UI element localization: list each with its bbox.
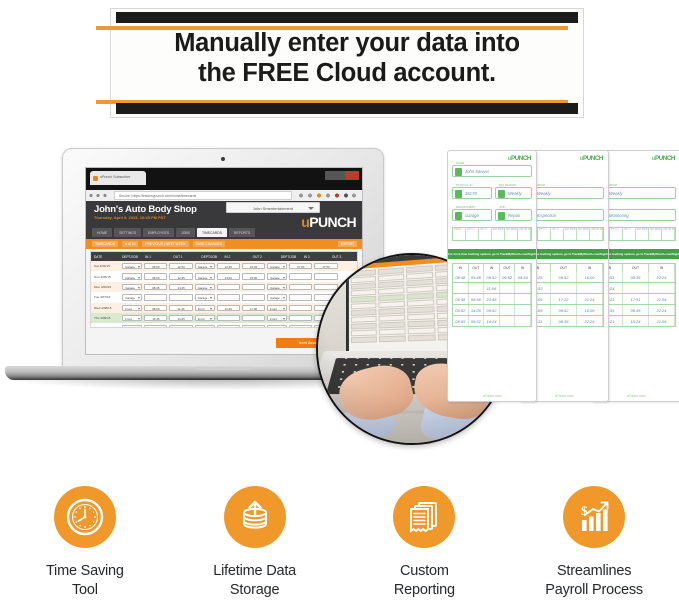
calendar-icon	[498, 190, 505, 198]
dept-job-select[interactable]: Garage	[195, 273, 215, 279]
punch-cell: 09:52	[453, 305, 469, 315]
person-icon	[455, 168, 462, 176]
punch-time-input[interactable]: 13:00	[217, 273, 240, 279]
totals-col-gross-pay: GROSS PAY	[518, 228, 531, 240]
totals-col-pay-rate-1: PAY RATE 1	[492, 228, 505, 240]
punch-cell: 09:52	[551, 305, 577, 315]
shop-name: John's Auto Body Shop	[94, 204, 197, 215]
tc3-value-job: Monitoring	[609, 213, 673, 218]
app-nav-tab-reports[interactable]: REPORTS	[229, 228, 255, 237]
tc1-promo-banner: For more time tracking options, go to Tr…	[448, 249, 536, 259]
headline-line-2: the FREE Cloud account.	[110, 58, 584, 88]
punch-time-input[interactable]: 08:00	[144, 273, 167, 279]
feature-3-line1: Custom	[394, 562, 455, 581]
punch-cell	[649, 283, 675, 293]
punch-row: 09:5214:2609:52	[452, 305, 532, 316]
tc1-field-job[interactable]: JOB Repair	[495, 209, 532, 221]
tc1-footer: uPunch.com	[448, 394, 536, 398]
user-select[interactable]: John Smentertainment	[226, 202, 320, 213]
database-upload-icon	[235, 497, 275, 537]
punch-time-input[interactable]	[289, 273, 312, 279]
paper-timecards: uPUNCH NAME John Sawyer PAYROLL ID 36178…	[443, 150, 677, 408]
feature-4-line2: Payroll Process	[545, 581, 643, 600]
tc1-value-payroll: 36178	[465, 191, 489, 196]
app-nav-tab-home[interactable]: HOME	[92, 228, 112, 237]
browser-nav-buttons[interactable]	[89, 193, 111, 198]
tc3-value-payperiod: Weekly	[609, 191, 673, 196]
punch-time-input[interactable]: 08:00	[144, 305, 167, 311]
dept-job-select[interactable]: Garage	[122, 263, 142, 269]
punch-time-input[interactable]: 14:25	[169, 315, 192, 321]
tc1-field-payroll[interactable]: PAYROLL ID 36178	[452, 187, 492, 199]
dept-job-select[interactable]: Garage	[195, 325, 215, 328]
totals-col-pay-rate-2: PAY RATE 2	[649, 228, 662, 240]
punch-cell: 09:54	[515, 272, 531, 282]
documents-icon-badge	[393, 486, 455, 548]
totals-col-qty-2: QTY 2	[551, 228, 564, 240]
punch-time-input[interactable]: 08:00	[144, 263, 167, 269]
punch-col-header: IN	[453, 264, 469, 272]
app-nav-tab-employees[interactable]: EMPLOYEES	[143, 228, 174, 237]
punch-time-input[interactable]	[289, 284, 312, 290]
dept-job-select[interactable]: Garage	[122, 325, 142, 328]
punch-col-header: IN	[577, 264, 603, 272]
totals-col-qty-1: QTY 1	[610, 228, 623, 240]
punch-time-input[interactable]	[169, 325, 192, 328]
col-header-out-2: OUT 2	[250, 252, 278, 261]
dept-job-select[interactable]: Front	[267, 315, 287, 321]
punch-cell: 23:48	[484, 294, 500, 304]
tc1-value-department: Garage	[465, 213, 489, 218]
clock-icon	[65, 497, 105, 537]
dept-job-select[interactable]: Garage	[267, 294, 287, 300]
headline-line-1: Manually enter your data into	[174, 29, 520, 57]
punch-time-input[interactable]	[289, 325, 312, 328]
punch-col-header: IN	[484, 264, 500, 272]
dept-job-select[interactable]: Garage	[195, 294, 215, 300]
punch-time-input[interactable]: 11:45	[169, 305, 192, 311]
punch-time-input[interactable]	[217, 284, 240, 290]
punch-cell: 09:52	[484, 305, 500, 315]
breadcrumb-item-2[interactable]: PREVIOUS | NEXT WEEK	[142, 241, 188, 247]
cell-date: Wed 4/08/15	[91, 306, 120, 310]
punch-cell: 08:56	[469, 294, 485, 304]
tc1-label-department: DEPARTMENT	[455, 205, 477, 209]
col-header-in-1: IN 1	[142, 252, 170, 261]
punch-time-input[interactable]	[289, 294, 312, 300]
punch-cell: 15:24	[623, 316, 649, 326]
punch-cell: 08:35	[551, 316, 577, 326]
tc2-value-job: Inspection	[537, 213, 601, 218]
dept-job-select[interactable]: Garage	[195, 263, 215, 269]
breadcrumb-item-0[interactable]: TIMECARDS	[92, 241, 118, 247]
clock-icon-badge	[54, 486, 116, 548]
punch-row: 05:5808:5623:48	[452, 294, 532, 305]
punch-cell	[515, 305, 531, 315]
punch-cell	[500, 283, 516, 293]
col-header-in-2: IN 2	[221, 252, 249, 261]
feature-1-line2: Tool	[46, 581, 124, 600]
headline-text: Manually enter your data into the FREE C…	[110, 28, 584, 88]
cell-date: Sat 4/04/15	[91, 264, 120, 268]
punch-cell: 17:51	[623, 294, 649, 304]
punch-cell: 14:26	[469, 305, 485, 315]
punch-time-input[interactable]: 15:00	[242, 273, 265, 279]
punch-cell: 08:48	[453, 272, 469, 282]
breadcrumb[interactable]: TIMECARDS4 of 10PREVIOUS | NEXT WEEKSAVE…	[92, 241, 225, 247]
col-header-dept-job: DEPT/JOB	[119, 252, 142, 261]
punch-cell	[453, 283, 469, 293]
punch-time-input[interactable]	[289, 305, 312, 311]
url-input[interactable]: Secure | https://trackmypunch.com/home/t…	[114, 191, 292, 200]
punch-cell: 22:24	[649, 272, 675, 282]
growth-chart-dollar-icon: $	[574, 497, 614, 537]
feature-row: Time Saving Tool	[0, 486, 679, 615]
tc1-label-payperiod: PAY PERIOD	[498, 183, 517, 187]
browser-extension-icons[interactable]	[297, 192, 359, 199]
cell-date: Mon 4/06/15	[91, 285, 120, 289]
dept-job-select[interactable]: Garage	[267, 263, 287, 269]
tc1-punch-table: INOUTINOUTIN08:4805:4809:5209:5209:5411:…	[452, 263, 532, 327]
punch-cell	[551, 283, 577, 293]
punch-time-input[interactable]	[242, 294, 265, 300]
col-header-out-1: OUT 1	[170, 252, 198, 261]
department-icon	[455, 212, 462, 220]
tc1-field-payperiod[interactable]: PAY PERIOD Weekly	[495, 187, 532, 199]
totals-col-pay-rate-1: PAY RATE 1	[636, 228, 649, 240]
dept-job-select[interactable]: Garage	[267, 284, 287, 290]
totals-col-qty-2: QTY 2	[479, 228, 492, 240]
tc1-field-name[interactable]: NAME John Sawyer	[452, 165, 532, 177]
punch-time-input[interactable]	[242, 284, 265, 290]
punch-cell	[469, 283, 485, 293]
totals-col-gross-pay: GROSS PAY	[590, 228, 603, 240]
punch-time-input[interactable]: 17:00	[242, 305, 265, 311]
punch-time-input[interactable]	[242, 315, 265, 321]
breadcrumb-bar: TIMECARDS4 of 10PREVIOUS | NEXT WEEKSAVE…	[86, 239, 362, 249]
dept-job-select[interactable]: Front	[267, 305, 287, 311]
punch-time-input[interactable]: 16:45	[242, 263, 265, 269]
timecard-logo-2: uPUNCH	[580, 155, 603, 162]
banner-bar-black-bottom	[116, 103, 578, 114]
punch-cell: 17:22	[551, 294, 577, 304]
punch-cell: 05:48	[469, 272, 485, 282]
cell-date: Sun 4/05/15	[91, 275, 120, 279]
svg-text:$: $	[581, 503, 588, 518]
headline-banner: Manually enter your data into the FREE C…	[96, 8, 584, 118]
logo-punch: PUNCH	[309, 214, 356, 230]
id-icon	[455, 190, 462, 198]
punch-col-header: IN	[649, 264, 675, 272]
punch-cell: 08:05	[453, 316, 469, 326]
feature-2-caption: Lifetime Data Storage	[213, 562, 296, 600]
punch-time-input[interactable]	[144, 294, 167, 300]
totals-col-gross-pay: GROSS PAY	[662, 228, 675, 240]
punch-row: 08:0509:3216:24	[452, 316, 532, 327]
feature-4-caption: Streamlines Payroll Process	[545, 562, 643, 600]
tc1-totals-grid: TOTALQTY 1QTY 2PAY RATE 1PAY RATE 2GROSS…	[452, 227, 532, 241]
punch-col-header: OUT	[500, 264, 516, 272]
punch-cell: 11:06	[484, 283, 500, 293]
tc3-logo-punch: PUNCH	[655, 155, 675, 162]
dept-job-select[interactable]: Front	[122, 315, 142, 321]
growth-chart-dollar-icon-badge: $	[563, 486, 625, 548]
feature-1-line1: Time Saving	[46, 562, 124, 581]
punch-cell: 08:35	[623, 272, 649, 282]
punch-time-input[interactable]: 12:00	[169, 263, 192, 269]
punch-col-header: IN	[515, 264, 531, 272]
dept-job-select[interactable]: Garage	[122, 284, 142, 290]
punch-cell: 09:52	[551, 272, 577, 282]
database-upload-icon-badge	[224, 486, 286, 548]
punch-cell	[500, 316, 516, 326]
punch-cell: 05:58	[453, 294, 469, 304]
punch-time-input[interactable]	[217, 315, 240, 321]
tc2-value-payperiod: Weekly	[537, 191, 601, 196]
shop-date: Thursday, April 9, 2015, 10:45 PM PST	[94, 216, 166, 220]
punch-cell: 16:00	[577, 305, 603, 315]
timecard-1: uPUNCH NAME John Sawyer PAYROLL ID 36178…	[447, 150, 537, 402]
app-nav-tab-timecards[interactable]: TIMECARDS	[197, 228, 227, 237]
app-header: John's Auto Body Shop Thursday, April 9,…	[86, 201, 362, 239]
promo-image: Manually enter your data into the FREE C…	[0, 0, 679, 615]
totals-col-total: TOTAL	[453, 228, 466, 240]
browser-tab[interactable]: uPunch Subscriber	[90, 171, 146, 185]
feature-3-line2: Reporting	[394, 581, 455, 600]
tc1-value-payperiod: Weekly	[508, 191, 529, 196]
punch-cell: 16:24	[484, 316, 500, 326]
punch-cell: 09:52	[500, 272, 516, 282]
punch-time-input[interactable]	[144, 325, 167, 328]
punch-col-header: OUT	[623, 264, 649, 272]
punch-col-header: OUT	[551, 264, 577, 272]
tc1-label-payroll: PAYROLL ID	[455, 183, 474, 187]
punch-header-row: INOUTINOUTIN	[452, 263, 532, 272]
dept-job-select[interactable]: Front	[195, 305, 215, 311]
punch-time-input[interactable]	[289, 315, 312, 321]
punch-cell	[515, 316, 531, 326]
punch-time-input[interactable]	[217, 294, 240, 300]
feature-3-caption: Custom Reporting	[394, 562, 455, 600]
punch-cell	[515, 294, 531, 304]
browser-titlebar: uPunch Subscriber	[86, 168, 362, 190]
app-nav: HOMESETTINGSEMPLOYEESJOBSTIMECARDSREPORT…	[92, 228, 255, 237]
totals-col-pay-rate-1: PAY RATE 1	[564, 228, 577, 240]
punch-cell: 08:35	[623, 305, 649, 315]
totals-col-pay-rate-2: PAY RATE 2	[505, 228, 518, 240]
punch-time-input[interactable]: 12:45	[217, 305, 240, 311]
tc1-value-job: Repair	[508, 213, 529, 218]
upunch-logo: uPUNCH	[301, 215, 356, 229]
dept-job-select[interactable]: Garage	[122, 273, 142, 279]
app-nav-tab-jobs[interactable]: JOBS	[176, 228, 195, 237]
punch-row: 11:06	[452, 283, 532, 294]
punch-time-input[interactable]: 12:45	[217, 263, 240, 269]
punch-row: 08:4805:4809:5209:5209:54	[452, 272, 532, 283]
punch-cell: 21:04	[649, 294, 675, 304]
dept-job-select[interactable]: Garage	[195, 284, 215, 290]
punch-time-input[interactable]: 08:45	[144, 284, 167, 290]
punch-cell: 21:04	[649, 316, 675, 326]
totals-col-pay-rate-2: PAY RATE 2	[577, 228, 590, 240]
punch-cell: 21:24	[577, 294, 603, 304]
punch-cell	[577, 283, 603, 293]
breadcrumb-item-3[interactable]: SAVE CHANGES	[193, 241, 226, 247]
punch-cell: 22:24	[649, 305, 675, 315]
export-button[interactable]: EXPORT	[338, 241, 357, 247]
documents-icon	[404, 497, 444, 537]
punch-time-input[interactable]	[217, 325, 240, 328]
totals-col-qty-1: QTY 1	[538, 228, 551, 240]
cell-date: Fri 4/10/15	[91, 327, 120, 328]
tc1-label-name: NAME	[455, 161, 465, 165]
punch-cell: 16:00	[577, 272, 603, 282]
punch-cell: 09:32	[469, 316, 485, 326]
dept-job-select[interactable]: Garage	[122, 294, 142, 300]
tc1-logo-punch: PUNCH	[511, 155, 531, 162]
punch-time-input[interactable]: 17:00	[289, 263, 312, 269]
breadcrumb-item-1[interactable]: 4 of 10	[122, 241, 138, 247]
tc1-value-name: John Sawyer	[465, 169, 529, 174]
tc1-field-department[interactable]: DEPARTMENT Garage	[452, 209, 492, 221]
dept-job-select[interactable]: Garage	[267, 273, 287, 279]
feature-custom-reporting: Custom Reporting	[340, 486, 510, 615]
feature-4-line1: Streamlines	[545, 562, 643, 581]
feature-time-saving-tool: Time Saving Tool	[0, 486, 170, 615]
col-header-date: DATE	[91, 252, 119, 261]
banner-bar-black-top	[116, 12, 578, 23]
punch-time-input[interactable]: 14:25	[169, 284, 192, 290]
punch-cell: 09:52	[484, 272, 500, 282]
feature-lifetime-data-storage: Lifetime Data Storage	[170, 486, 340, 615]
feature-1-caption: Time Saving Tool	[46, 562, 124, 600]
punch-time-input[interactable]: 10:45	[144, 315, 167, 321]
tc1-label-job: JOB	[498, 205, 506, 209]
punch-time-input[interactable]	[242, 325, 265, 328]
punch-time-input[interactable]: 12:45	[169, 273, 192, 279]
webcam-icon	[221, 157, 225, 161]
timecard-logo-3: uPUNCH	[652, 155, 675, 162]
app-nav-tab-settings[interactable]: SETTINGS	[114, 228, 141, 237]
feature-2-line2: Storage	[213, 581, 296, 600]
cell-date: Thu 4/09/15	[91, 316, 120, 320]
punch-cell	[623, 283, 649, 293]
dept-job-select[interactable]: Front	[195, 315, 215, 321]
window-controls[interactable]	[325, 171, 359, 180]
punch-col-header: OUT	[469, 264, 485, 272]
punch-time-input[interactable]	[169, 294, 192, 300]
punch-cell	[500, 305, 516, 315]
totals-col-qty-1: QTY 1	[466, 228, 479, 240]
dept-job-select[interactable]: Garage	[267, 325, 287, 328]
dept-job-select[interactable]: Front	[122, 305, 142, 311]
punch-cell	[500, 294, 516, 304]
gear-icon	[498, 212, 505, 220]
col-header-dept-job: DEPT/JOB	[198, 252, 221, 261]
timecard-logo-1: uPUNCH	[508, 155, 531, 162]
totals-col-qty-2: QTY 2	[623, 228, 636, 240]
tc2-logo-punch: PUNCH	[583, 155, 603, 162]
feature-2-line1: Lifetime Data	[213, 562, 296, 581]
feature-streamlines-payroll: $ Streamlines Payroll Process	[509, 486, 679, 615]
cell-date: Tue 4/07/15	[91, 295, 120, 299]
punch-cell	[515, 283, 531, 293]
punch-cell: 22:24	[577, 316, 603, 326]
col-header-dept-job: DEPT/JOB	[278, 252, 301, 261]
